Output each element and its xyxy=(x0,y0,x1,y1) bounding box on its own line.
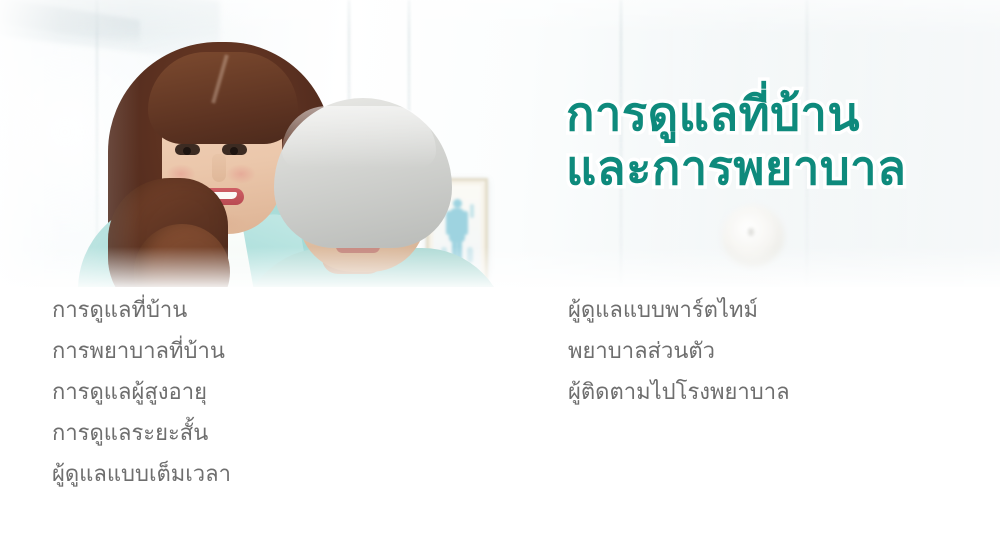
caregiver-cheek-right xyxy=(226,164,256,184)
page-title: การดูแลที่บ้าน และการพยาบาล xyxy=(566,92,906,200)
list-item[interactable]: ผู้ดูแลแบบพาร์ตไทม์ xyxy=(568,300,790,322)
list-item[interactable]: การดูแลที่บ้าน xyxy=(52,300,231,322)
service-list-left: การดูแลที่บ้าน การพยาบาลที่บ้าน การดูแลผ… xyxy=(52,300,231,505)
elderly-woman-figure xyxy=(270,100,470,287)
list-item[interactable]: การดูแลผู้สูงอายุ xyxy=(52,382,231,404)
list-item[interactable]: การดูแลระยะสั้น xyxy=(52,423,231,445)
service-banner: การดูแลที่บ้าน และการพยาบาล การดูแลที่บ้… xyxy=(0,0,1000,539)
headline-line-2: และการพยาบาล xyxy=(566,146,906,192)
caregiver-pupil-left xyxy=(183,147,191,155)
headline-line-1: การดูแลที่บ้าน xyxy=(566,92,906,138)
list-item[interactable]: พยาบาลส่วนตัว xyxy=(568,341,790,363)
caregiver-nose xyxy=(212,154,226,182)
list-item[interactable]: ผู้ติดตามไปโรงพยาบาล xyxy=(568,382,790,404)
caregiver-pupil-right xyxy=(230,147,238,155)
service-list-right: ผู้ดูแลแบบพาร์ตไทม์ พยาบาลส่วนตัว ผู้ติด… xyxy=(568,300,790,423)
service-lists: การดูแลที่บ้าน การพยาบาลที่บ้าน การดูแลผ… xyxy=(0,300,1000,539)
list-item[interactable]: ผู้ดูแลแบบเต็มเวลา xyxy=(52,464,231,486)
elderly-hair-highlight xyxy=(282,106,436,168)
list-item[interactable]: การพยาบาลที่บ้าน xyxy=(52,341,231,363)
